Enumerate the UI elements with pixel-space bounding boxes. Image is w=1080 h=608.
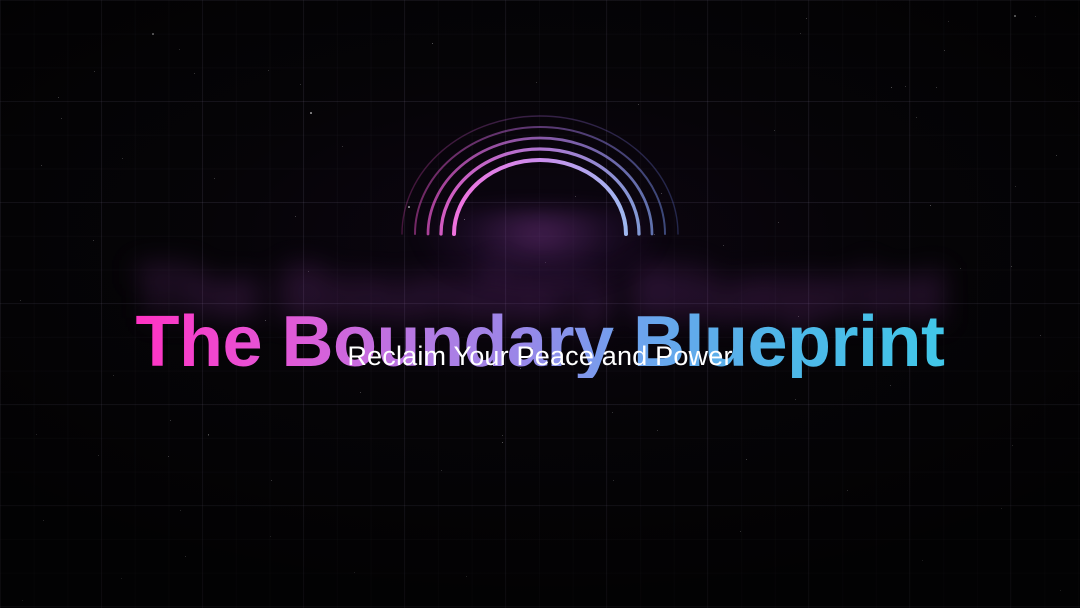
star-dot	[502, 442, 503, 443]
star-dot	[1060, 590, 1061, 591]
star-dot	[180, 510, 181, 511]
star-dot	[1014, 15, 1016, 17]
star-dot	[613, 480, 614, 481]
star-dot	[657, 430, 658, 431]
star-dot	[214, 178, 215, 179]
star-dot	[936, 87, 937, 88]
star-dot	[43, 520, 44, 521]
rainbow-arc-icon	[390, 112, 690, 252]
star-dot	[170, 420, 171, 421]
star-dot	[740, 531, 741, 532]
star-dot	[208, 434, 209, 435]
star-dot	[342, 146, 343, 147]
star-dot	[778, 222, 779, 223]
star-dot	[121, 578, 122, 579]
star-dot	[536, 82, 537, 83]
star-dot	[94, 71, 95, 72]
star-dot	[194, 73, 195, 74]
page-subtitle: Reclaim Your Peace and Power	[0, 341, 1080, 372]
star-dot	[152, 33, 154, 35]
star-dot	[800, 33, 801, 34]
star-dot	[20, 300, 21, 301]
star-dot	[98, 455, 99, 456]
star-dot	[441, 470, 442, 471]
star-dot	[774, 130, 775, 131]
star-dot	[1035, 16, 1036, 17]
star-dot	[432, 43, 433, 44]
star-dot	[545, 262, 546, 263]
star-dot	[916, 117, 917, 118]
star-dot	[795, 399, 796, 400]
star-dot	[41, 165, 42, 166]
presentation-slide: The Boundary Blueprint The Boundary Blue…	[0, 0, 1080, 608]
star-dot	[723, 245, 724, 246]
star-dot	[58, 97, 59, 98]
star-dot	[891, 87, 892, 88]
star-dot	[612, 412, 613, 413]
star-dot	[905, 86, 906, 87]
star-dot	[944, 50, 945, 51]
star-dot	[746, 459, 747, 460]
star-dot	[922, 560, 923, 561]
star-dot	[638, 104, 639, 105]
star-dot	[502, 435, 503, 436]
star-dot	[308, 271, 309, 272]
star-dot	[930, 205, 931, 206]
star-dot	[22, 600, 23, 601]
star-dot	[1011, 266, 1012, 267]
star-dot	[948, 21, 949, 22]
star-dot	[61, 118, 62, 119]
star-dot	[354, 572, 355, 573]
rainbow-arc-emblem	[390, 112, 690, 252]
star-dot	[1012, 445, 1013, 446]
star-dot	[270, 536, 271, 537]
star-dot	[179, 49, 180, 50]
star-dot	[1056, 155, 1057, 156]
star-dot	[890, 385, 891, 386]
star-dot	[960, 268, 961, 269]
star-dot	[93, 240, 94, 241]
star-dot	[466, 576, 467, 577]
star-dot	[268, 70, 269, 71]
star-dot	[271, 480, 272, 481]
star-dot	[1015, 186, 1016, 187]
star-dot	[806, 18, 807, 19]
star-dot	[295, 216, 296, 217]
star-dot	[1001, 508, 1002, 509]
star-dot	[310, 112, 312, 114]
star-dot	[360, 392, 361, 393]
star-dot	[36, 434, 37, 435]
star-dot	[185, 556, 186, 557]
star-dot	[300, 84, 301, 85]
star-dot	[168, 456, 169, 457]
star-dot	[122, 158, 123, 159]
star-dot	[208, 435, 209, 436]
star-dot	[847, 490, 848, 491]
